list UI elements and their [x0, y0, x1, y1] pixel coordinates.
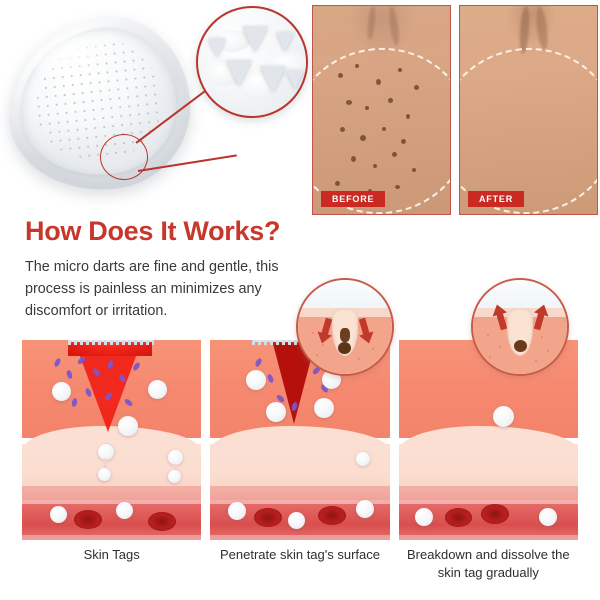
inset-pore-releasing — [471, 278, 569, 376]
inset-pore-absorbing — [296, 278, 394, 376]
before-skin-surface — [313, 6, 450, 214]
after-highlight-outline — [459, 36, 598, 215]
dermis-layer — [399, 444, 578, 488]
product-image-zone — [0, 0, 306, 215]
after-photo: AFTER — [459, 5, 598, 215]
page-title: How Does It Works? — [25, 216, 345, 247]
infographic-root: BEFORE AFTER How Does It Works? The micr… — [0, 0, 600, 600]
step-captions: Skin Tags Penetrate skin tag's surface B… — [22, 546, 578, 594]
zoom-focus-circle-icon — [100, 134, 148, 180]
before-highlight-outline — [312, 36, 451, 215]
skin-cross-section-1 — [22, 340, 201, 540]
before-badge: BEFORE — [321, 191, 385, 207]
micro-dart-patch — [8, 18, 198, 198]
step-caption-2: Penetrate skin tag's surface — [210, 546, 389, 594]
dermis-layer — [210, 444, 389, 488]
after-skin-surface — [460, 6, 597, 214]
step-caption-3: Breakdown and dissolve the skin tag grad… — [399, 546, 578, 594]
magnified-microdarts-view — [196, 6, 308, 118]
before-photo: BEFORE — [312, 5, 451, 215]
page-description: The micro darts are fine and gentle, thi… — [25, 256, 325, 322]
step-panel-1 — [22, 340, 201, 540]
process-diagram — [22, 340, 578, 540]
after-badge: AFTER — [468, 191, 524, 207]
step-panel-2 — [210, 340, 389, 540]
step-caption-1: Skin Tags — [22, 546, 201, 594]
before-after-comparison: BEFORE AFTER — [312, 5, 598, 215]
step-panel-3 — [399, 340, 578, 540]
